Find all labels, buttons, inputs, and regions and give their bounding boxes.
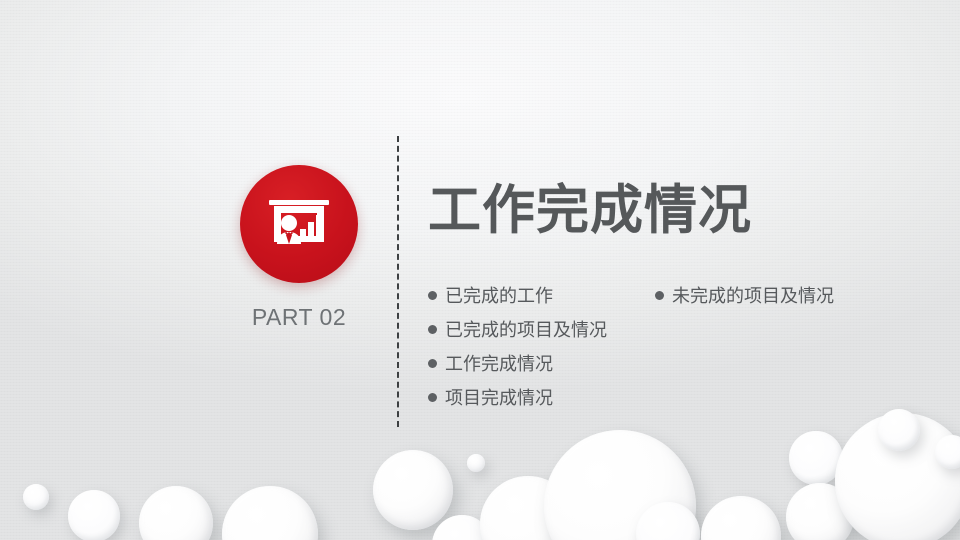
presentation-chart-person-icon <box>240 165 358 283</box>
bullet-list-right: 未完成的项目及情况 <box>655 278 834 312</box>
decorative-circle <box>636 502 700 540</box>
decorative-circle <box>23 484 49 510</box>
bullet-item: 未完成的项目及情况 <box>655 278 834 312</box>
bullet-text: 工作完成情况 <box>445 350 553 376</box>
bullet-dot-icon <box>428 359 437 368</box>
vertical-dashed-divider <box>397 136 399 427</box>
bullet-text: 项目完成情况 <box>445 384 553 410</box>
decorative-circle <box>222 486 318 540</box>
decorative-circle <box>480 476 576 540</box>
decorative-circle <box>786 483 854 540</box>
decorative-circle <box>68 490 120 540</box>
decorative-circle <box>701 496 781 540</box>
bullet-text: 已完成的工作 <box>445 282 553 308</box>
bullet-item: 项目完成情况 <box>428 380 607 414</box>
decorative-circle <box>432 515 492 540</box>
bullet-item: 已完成的工作 <box>428 278 607 312</box>
decorative-circle <box>373 450 453 530</box>
decorative-circle <box>544 430 696 540</box>
bullet-dot-icon <box>428 325 437 334</box>
decorative-circles <box>0 0 960 540</box>
part-label: PART 02 <box>200 304 398 331</box>
bullet-text: 已完成的项目及情况 <box>445 316 607 342</box>
decorative-circle <box>878 409 920 451</box>
page-title: 工作完成情况 <box>428 182 752 240</box>
decorative-circle <box>789 431 843 485</box>
bullet-dot-icon <box>655 291 664 300</box>
bullet-dot-icon <box>428 393 437 402</box>
background-texture <box>0 0 960 540</box>
bullet-item: 已完成的项目及情况 <box>428 312 607 346</box>
bullet-list-left: 已完成的工作已完成的项目及情况工作完成情况项目完成情况 <box>428 278 607 414</box>
decorative-circle <box>139 486 213 540</box>
bullet-dot-icon <box>428 291 437 300</box>
bullet-text: 未完成的项目及情况 <box>672 282 834 308</box>
decorative-circle <box>467 454 485 472</box>
decorative-circle <box>935 435 960 469</box>
slide-canvas: PART 02 工作完成情况 已完成的工作已完成的项目及情况工作完成情况项目完成… <box>0 0 960 540</box>
decorative-circle <box>835 413 960 540</box>
bullet-item: 工作完成情况 <box>428 346 607 380</box>
